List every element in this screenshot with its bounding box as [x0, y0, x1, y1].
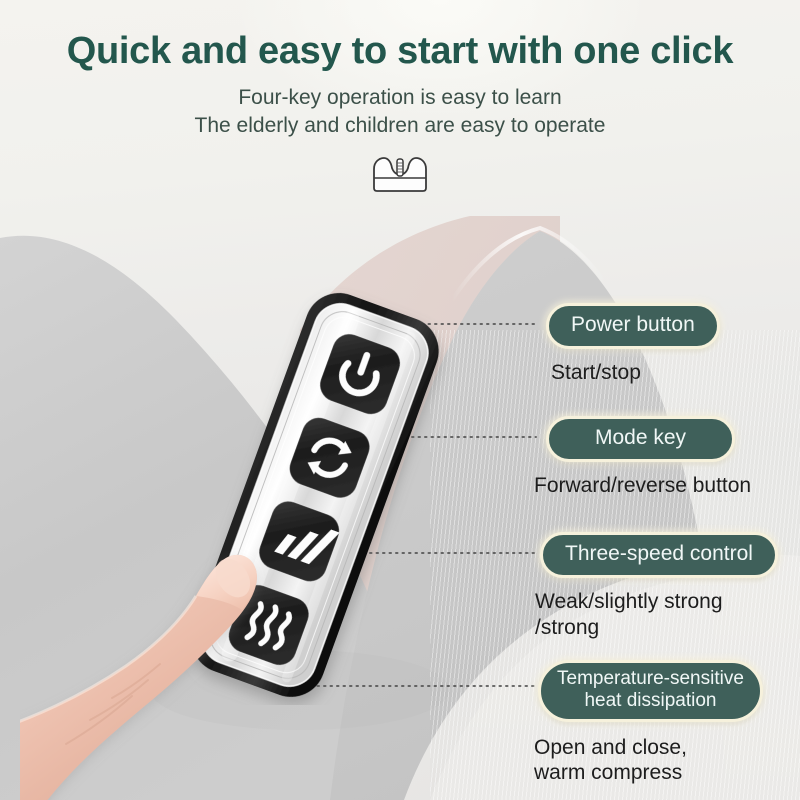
callout-power-button: Power button Start/stop: [546, 303, 720, 386]
pill-mode-key[interactable]: Mode key: [546, 416, 735, 462]
pill-power-button[interactable]: Power button: [546, 303, 720, 349]
pill-temperature-sensitive-heat-dissipation[interactable]: Temperature-sensitive heat dissipation: [538, 660, 763, 722]
infographic-canvas: Quick and easy to start with one click F…: [0, 0, 800, 800]
description-mode-key: Forward/reverse button: [534, 473, 751, 499]
callout-mode-key: Mode key Forward/reverse button: [546, 416, 751, 499]
description-three-speed-control: Weak/slightly strong /strong: [535, 589, 778, 640]
pill-line-2: heat dissipation: [584, 690, 716, 711]
description-power-button: Start/stop: [551, 360, 720, 386]
callout-temperature-sensitive-heat-dissipation: Temperature-sensitive heat dissipation O…: [538, 660, 763, 786]
pill-three-speed-control[interactable]: Three-speed control: [540, 532, 778, 578]
pill-line-1: Temperature-sensitive: [557, 668, 744, 689]
hand-pressing-button: [20, 530, 320, 800]
callout-three-speed-control: Three-speed control Weak/slightly strong…: [540, 532, 778, 640]
description-temperature-sensitive-heat-dissipation: Open and close, warm compress: [534, 735, 763, 786]
